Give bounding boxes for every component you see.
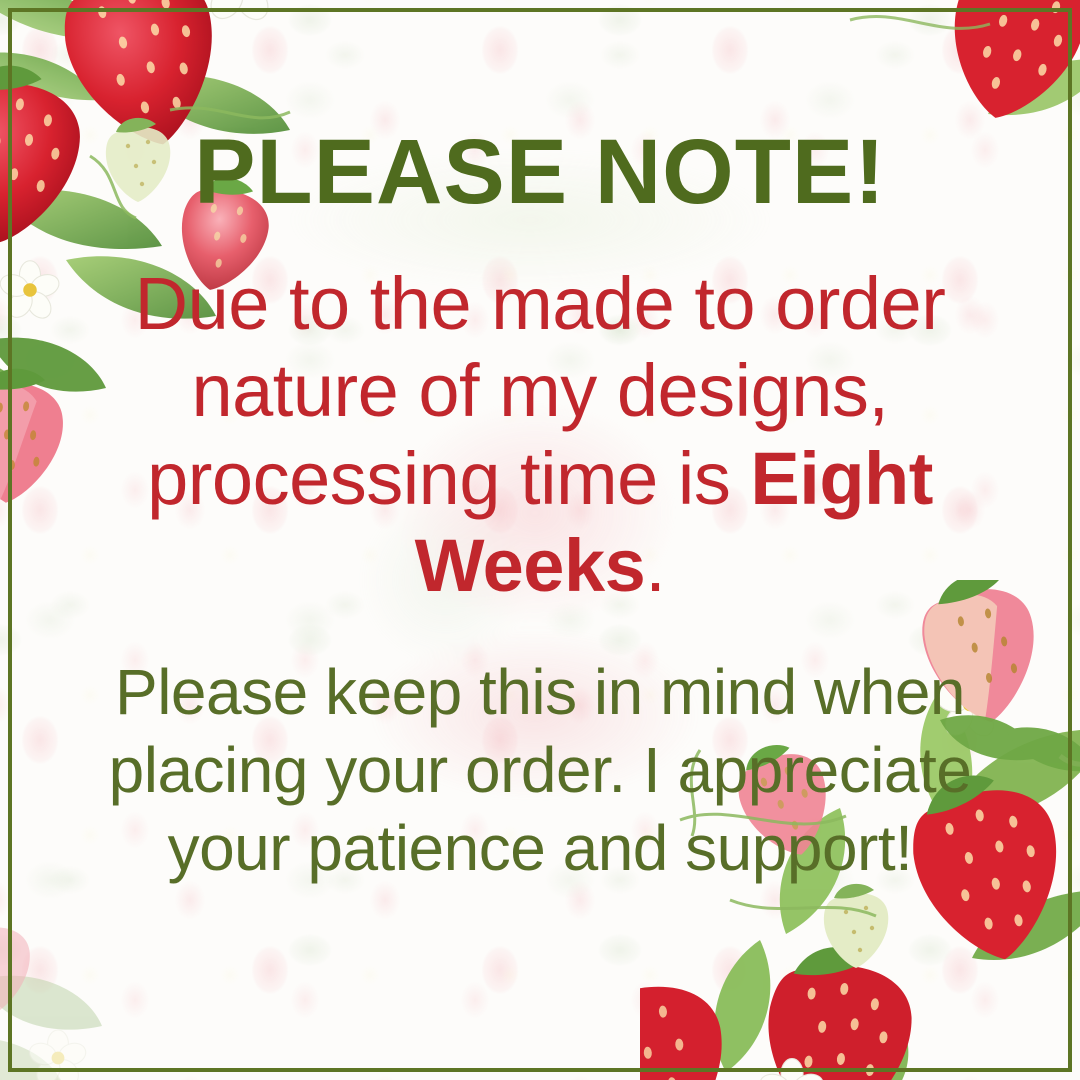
page-title: PLEASE NOTE! [194,126,886,218]
card-content: PLEASE NOTE! Due to the made to order na… [0,0,1080,1080]
processing-notice: Due to the made to order nature of my de… [75,260,1005,609]
please-note-card: PLEASE NOTE! Due to the made to order na… [0,0,1080,1080]
closing-message: Please keep this in mind when placing yo… [60,653,1020,887]
processing-notice-tail: . [645,524,665,607]
